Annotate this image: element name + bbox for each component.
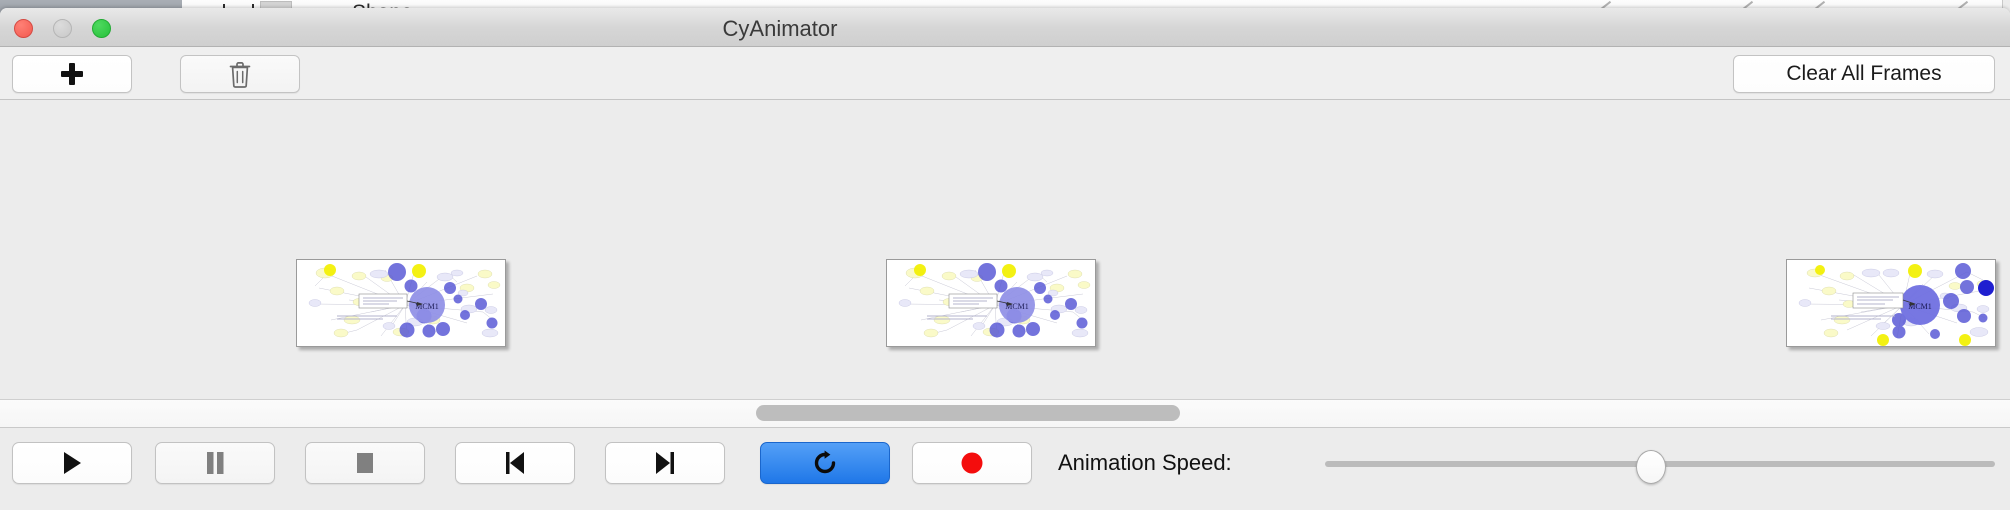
window-title: CyAnimator	[0, 16, 2010, 42]
loop-button[interactable]	[760, 442, 890, 484]
stop-button[interactable]	[305, 442, 425, 484]
cyanimator-screen: Shape CyAnimator	[0, 0, 2010, 510]
clear-all-frames-button[interactable]: Clear All Frames	[1733, 55, 1995, 93]
window-title-text: CyAnimator	[723, 16, 838, 41]
play-button[interactable]	[12, 442, 132, 484]
skip-forward-icon	[653, 450, 677, 476]
previous-frame-button[interactable]	[455, 442, 575, 484]
trash-icon	[228, 61, 252, 88]
timeline-scrollbar[interactable]	[0, 400, 2010, 428]
timeline-panel[interactable]: MCM1	[0, 100, 2010, 400]
record-icon	[959, 450, 985, 476]
pause-icon	[204, 450, 226, 476]
record-button[interactable]	[912, 442, 1032, 484]
add-frame-button[interactable]	[12, 55, 132, 93]
delete-frame-button[interactable]	[180, 55, 300, 93]
toolbar: Clear All Frames	[0, 47, 2010, 100]
loop-icon	[812, 450, 838, 476]
cyanimator-window: CyAnimator Clear All Frames	[0, 8, 2010, 510]
timeline-frame-thumbnail[interactable]: MCM1	[1786, 259, 1996, 347]
timeline-frame-thumbnail[interactable]: MCM1	[886, 259, 1096, 347]
play-icon	[61, 450, 83, 476]
next-frame-button[interactable]	[605, 442, 725, 484]
timeline-scrollbar-thumb[interactable]	[756, 405, 1180, 421]
stop-icon	[354, 450, 376, 476]
animation-speed-label: Animation Speed:	[1058, 450, 1232, 476]
timeline-frame-thumbnail[interactable]: MCM1	[296, 259, 506, 347]
clear-all-frames-label: Clear All Frames	[1786, 62, 1941, 86]
skip-back-icon	[503, 450, 527, 476]
animation-speed-slider-thumb[interactable]	[1636, 450, 1666, 484]
titlebar: CyAnimator	[0, 8, 2010, 47]
playback-control-bar: Animation Speed:	[0, 428, 2010, 510]
pause-button[interactable]	[155, 442, 275, 484]
plus-icon	[61, 63, 83, 85]
